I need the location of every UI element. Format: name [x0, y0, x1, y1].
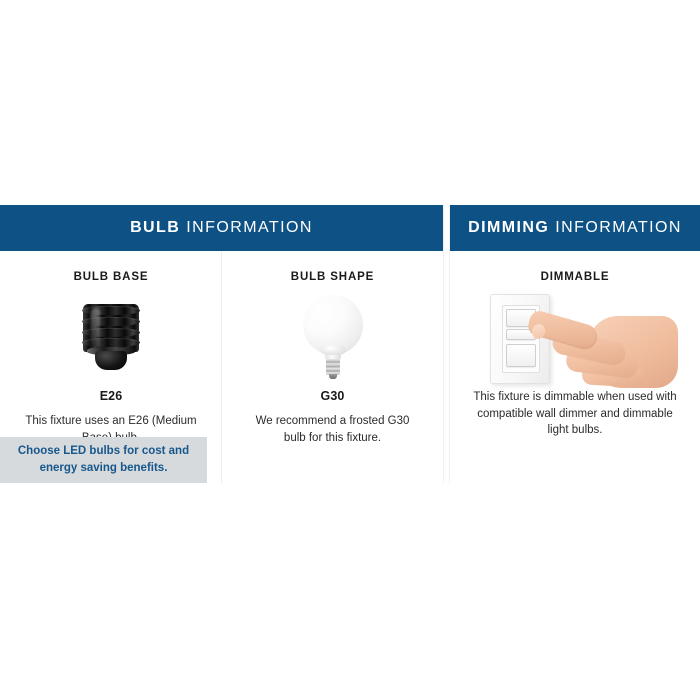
bulb-base-title: BULB BASE	[0, 271, 222, 283]
bulb-information-header: BULB INFORMATION	[0, 205, 443, 251]
bulb-shape-figure	[222, 295, 443, 381]
e26-screw-base-icon	[81, 304, 141, 372]
bulb-shape-description: We recommend a frosted G30 bulb for this…	[245, 413, 420, 446]
bulb-shape-label: G30	[222, 389, 443, 403]
bulb-shape-column: BULB SHAPE G30 We recommend a frosted G3…	[222, 251, 443, 446]
dimmable-title: DIMMABLE	[450, 271, 700, 283]
wall-dimmer-switch-with-hand-icon	[482, 292, 668, 384]
dimming-information-panel: DIMMING INFORMATION DIMMABLE	[450, 205, 700, 439]
product-spec-infographic: BULB INFORMATION BULB BASE	[0, 0, 700, 700]
dimmable-description: This fixture is dimmable when used with …	[473, 389, 678, 439]
dimmable-column: DIMMABLE	[450, 251, 700, 439]
bulb-shape-title: BULB SHAPE	[222, 271, 443, 283]
led-recommendation-banner: Choose LED bulbs for cost and energy sav…	[0, 437, 207, 483]
dimming-information-header-strong: DIMMING	[468, 219, 549, 237]
bulb-base-figure	[0, 295, 222, 381]
dimming-information-header-light: INFORMATION	[555, 219, 682, 237]
panel-gap-rule-left	[443, 205, 444, 483]
dimmable-figure	[450, 295, 700, 381]
bulb-base-label: E26	[0, 389, 222, 403]
dimming-information-header: DIMMING INFORMATION	[450, 205, 700, 251]
bulb-information-panel: BULB INFORMATION BULB BASE	[0, 205, 443, 446]
bulb-information-header-light: INFORMATION	[186, 219, 313, 237]
bulb-information-header-strong: BULB	[130, 219, 180, 237]
dimming-information-body: DIMMABLE	[450, 251, 700, 439]
hand-illustration	[526, 308, 661, 388]
led-recommendation-text: Choose LED bulbs for cost and energy sav…	[9, 443, 199, 476]
bulb-base-column: BULB BASE E26 This fixture uses an E2	[0, 251, 222, 446]
bulb-information-body: BULB BASE E26 This fixture uses an E2	[0, 251, 443, 446]
g30-globe-bulb-icon	[301, 295, 365, 381]
